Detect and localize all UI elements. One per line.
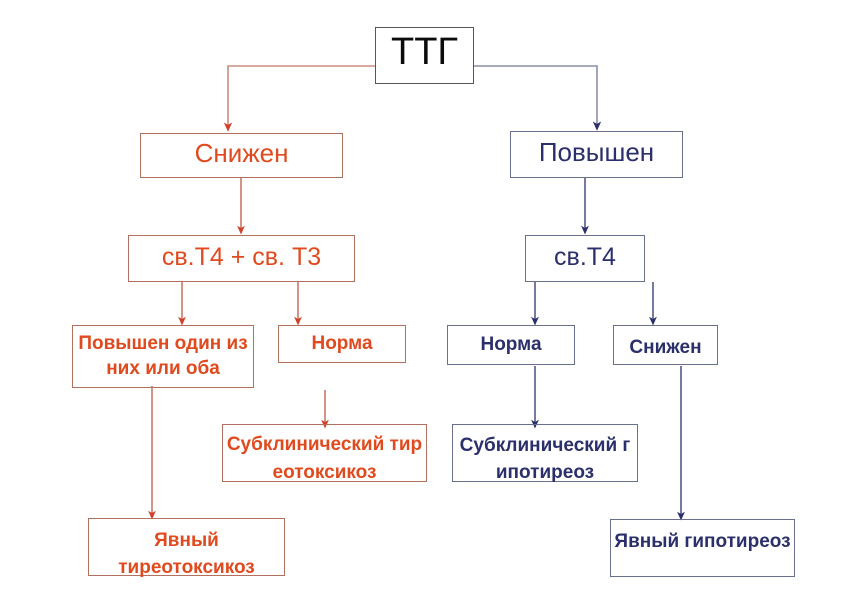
node-snizhen[interactable]: Снижен	[140, 133, 343, 178]
node-subclinical-hypothyroidism-label: Субклинический гипотиреоз	[455, 433, 635, 486]
node-right-test-label: св.Т4	[520, 244, 650, 271]
node-povyshen-label: Повышен	[505, 139, 688, 167]
node-right-normal[interactable]: Норма	[447, 325, 575, 365]
node-ttg[interactable]: ТТГ	[375, 27, 474, 84]
node-ttg-label: ТТГ	[376, 32, 473, 72]
node-left-normal-label: Норма	[273, 334, 411, 354]
node-left-test[interactable]: св.Т4 + св. Т3	[128, 235, 355, 282]
node-subclinical-thyrotoxicosis[interactable]: Субклинический тиреотоксикоз	[222, 424, 427, 482]
node-left-normal[interactable]: Норма	[278, 325, 406, 363]
node-snizhen-label: Снижен	[135, 140, 348, 168]
node-overt-thyrotoxicosis[interactable]: Явный тиреотоксикоз	[88, 518, 285, 576]
node-right-decreased[interactable]: Снижен	[613, 325, 718, 365]
node-subclinical-hypothyroidism[interactable]: Субклинический гипотиреоз	[452, 424, 638, 482]
node-overt-thyrotoxicosis-label: Явный тиреотоксикоз	[91, 528, 282, 581]
node-overt-hypothyroidism-label: Явный гипотиреоз	[613, 529, 792, 556]
node-left-test-label: св.Т4 + св. Т3	[123, 244, 360, 271]
node-right-decreased-label: Снижен	[618, 334, 713, 362]
edge-root-to-povyshen	[473, 66, 597, 126]
node-povyshen[interactable]: Повышен	[510, 131, 683, 178]
edge-root-to-snizhen	[228, 66, 375, 127]
node-subclinical-thyrotoxicosis-label: Субклинический тиреотоксикоз	[225, 431, 424, 486]
node-left-elevated[interactable]: Повышен один из них или оба	[72, 325, 254, 388]
node-overt-hypothyroidism[interactable]: Явный гипотиреоз	[610, 519, 795, 577]
node-right-test[interactable]: св.Т4	[525, 235, 645, 282]
node-right-normal-label: Норма	[442, 335, 580, 355]
node-left-elevated-label: Повышен один из них или оба	[75, 331, 251, 382]
connector-layer	[0, 0, 850, 595]
flowchart-canvas: ТТГ Снижен Повышен св.Т4 + св. Т3 св.Т4 …	[0, 0, 850, 595]
